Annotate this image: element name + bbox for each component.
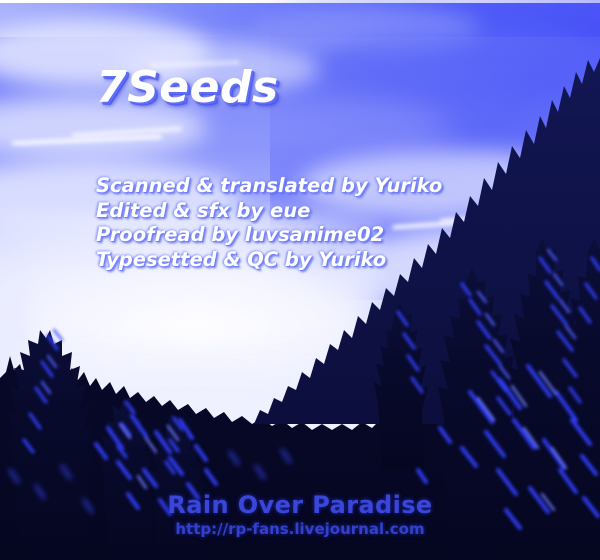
scanlation-group-watermark: Rain Over Paradise — [0, 491, 600, 519]
scanlation-group-url: http://rp-fans.livejournal.com — [0, 520, 600, 538]
credits-block: Scanned & translated by Yuriko Edited & … — [96, 174, 442, 272]
scanlation-credits-page: 7Seeds Scanned & translated by Yuriko Ed… — [0, 0, 600, 560]
credit-line-scanner: Scanned & translated by Yuriko — [96, 174, 442, 199]
manga-title: 7Seeds — [96, 62, 279, 113]
credit-line-typesetter: Typesetted & QC by Yuriko — [96, 248, 442, 273]
credit-line-editor: Edited & sfx by eue — [96, 199, 442, 224]
forest-ridge-silhouette — [0, 0, 600, 560]
credit-line-proofreader: Proofread by luvsanime02 — [96, 223, 442, 248]
